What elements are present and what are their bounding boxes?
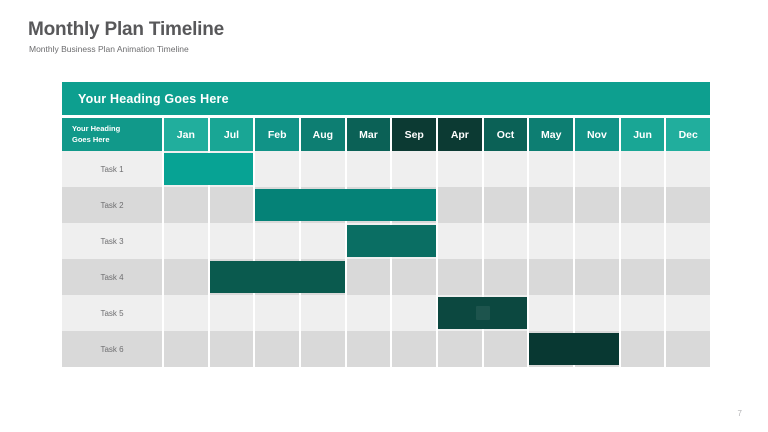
month-header-label: Aug bbox=[313, 129, 333, 141]
page-title: Monthly Plan Timeline bbox=[28, 20, 224, 41]
task-label-4[interactable]: Task 4 bbox=[62, 259, 162, 295]
grid-cell[interactable] bbox=[484, 223, 528, 259]
task-row: Task 4 bbox=[62, 259, 710, 295]
task-label-2[interactable]: Task 2 bbox=[62, 187, 162, 223]
task-row: Task 6 bbox=[62, 331, 710, 367]
month-header-cell-jun[interactable]: Jun bbox=[621, 118, 665, 151]
gantt-bar-task-6[interactable] bbox=[529, 333, 618, 365]
task-row: Task 5 bbox=[62, 295, 710, 331]
slide-canvas: Monthly Plan Timeline Monthly Business P… bbox=[0, 0, 768, 432]
grid-cell[interactable] bbox=[255, 331, 299, 367]
grid-cell[interactable] bbox=[666, 331, 710, 367]
task-grid-area bbox=[162, 259, 710, 295]
grid-cell[interactable] bbox=[210, 295, 254, 331]
image-placeholder-icon bbox=[476, 306, 490, 320]
grid-cell[interactable] bbox=[210, 223, 254, 259]
month-header-cell-apr[interactable]: Apr bbox=[438, 118, 482, 151]
gantt-bar-task-1[interactable] bbox=[164, 153, 253, 185]
grid-cell[interactable] bbox=[529, 187, 573, 223]
grid-cell[interactable] bbox=[484, 151, 528, 187]
grid-cell[interactable] bbox=[301, 151, 345, 187]
grid-cell[interactable] bbox=[438, 223, 482, 259]
chart-heading-bar: Your Heading Goes Here bbox=[62, 82, 710, 115]
task-label-1[interactable]: Task 1 bbox=[62, 151, 162, 187]
grid-cell[interactable] bbox=[392, 259, 436, 295]
task-label-3[interactable]: Task 3 bbox=[62, 223, 162, 259]
task-grid-area bbox=[162, 331, 710, 367]
month-header-label: Jun bbox=[633, 129, 652, 141]
grid-cell[interactable] bbox=[621, 295, 665, 331]
grid-cell[interactable] bbox=[529, 259, 573, 295]
month-header-label: Sep bbox=[405, 129, 424, 141]
gantt-bar-task-4[interactable] bbox=[210, 261, 345, 293]
gantt-chart: Your Heading Goes Here Your Heading Goes… bbox=[62, 82, 710, 367]
grid-cell[interactable] bbox=[210, 187, 254, 223]
corner-heading-cell: Your Heading Goes Here bbox=[62, 118, 162, 151]
grid-cell[interactable] bbox=[438, 151, 482, 187]
month-cells-container: JanJulFebAugMarSepAprOctMayNovJunDec bbox=[162, 118, 710, 151]
grid-cell[interactable] bbox=[164, 259, 208, 295]
grid-cell[interactable] bbox=[666, 223, 710, 259]
grid-cell[interactable] bbox=[301, 331, 345, 367]
grid-cell[interactable] bbox=[484, 259, 528, 295]
grid-cell[interactable] bbox=[529, 151, 573, 187]
grid-cell[interactable] bbox=[575, 151, 619, 187]
month-header-cell-feb[interactable]: Feb bbox=[255, 118, 299, 151]
grid-cell[interactable] bbox=[575, 259, 619, 295]
grid-cell[interactable] bbox=[164, 187, 208, 223]
month-header-cell-mar[interactable]: Mar bbox=[347, 118, 391, 151]
month-header-label: Jul bbox=[224, 129, 239, 141]
grid-cell[interactable] bbox=[484, 331, 528, 367]
task-grid-area bbox=[162, 187, 710, 223]
task-label-5[interactable]: Task 5 bbox=[62, 295, 162, 331]
month-header-label: Dec bbox=[679, 129, 698, 141]
gantt-bar-task-5[interactable] bbox=[438, 297, 527, 329]
grid-cell[interactable] bbox=[301, 295, 345, 331]
grid-cell[interactable] bbox=[621, 187, 665, 223]
grid-cell[interactable] bbox=[621, 223, 665, 259]
grid-cell[interactable] bbox=[666, 151, 710, 187]
grid-cell[interactable] bbox=[666, 295, 710, 331]
grid-cell[interactable] bbox=[392, 295, 436, 331]
grid-cell[interactable] bbox=[347, 295, 391, 331]
grid-cell[interactable] bbox=[347, 151, 391, 187]
corner-heading-line1: Your Heading bbox=[72, 124, 162, 134]
task-row: Task 1 bbox=[62, 151, 710, 187]
month-header-label: Mar bbox=[359, 129, 378, 141]
grid-cell[interactable] bbox=[210, 331, 254, 367]
grid-cell[interactable] bbox=[575, 187, 619, 223]
month-header-label: Apr bbox=[451, 129, 469, 141]
task-grid-area bbox=[162, 223, 710, 259]
grid-cell[interactable] bbox=[392, 331, 436, 367]
grid-cell[interactable] bbox=[438, 331, 482, 367]
grid-cell[interactable] bbox=[666, 187, 710, 223]
grid-cell[interactable] bbox=[438, 259, 482, 295]
grid-cell[interactable] bbox=[621, 259, 665, 295]
month-header-label: Oct bbox=[497, 129, 515, 141]
grid-cell[interactable] bbox=[621, 331, 665, 367]
task-row: Task 2 bbox=[62, 187, 710, 223]
task-rows-container: Task 1Task 2Task 3Task 4Task 5Task 6 bbox=[62, 151, 710, 367]
grid-cell[interactable] bbox=[438, 187, 482, 223]
month-header-label: Feb bbox=[268, 129, 287, 141]
grid-cell[interactable] bbox=[347, 331, 391, 367]
month-header-cell-jul[interactable]: Jul bbox=[210, 118, 254, 151]
month-header-cell-oct[interactable]: Oct bbox=[484, 118, 528, 151]
corner-heading-line2: Goes Here bbox=[72, 135, 162, 145]
task-row: Task 3 bbox=[62, 223, 710, 259]
page-number: 7 bbox=[738, 409, 742, 418]
grid-cell[interactable] bbox=[255, 223, 299, 259]
grid-cell[interactable] bbox=[666, 259, 710, 295]
month-header-cell-sep[interactable]: Sep bbox=[392, 118, 436, 151]
month-header-label: Jan bbox=[177, 129, 195, 141]
grid-cell[interactable] bbox=[575, 295, 619, 331]
page-subtitle: Monthly Business Plan Animation Timeline bbox=[29, 44, 224, 54]
month-header-label: Nov bbox=[587, 129, 607, 141]
title-block: Monthly Plan Timeline Monthly Business P… bbox=[28, 20, 224, 54]
task-grid-area bbox=[162, 151, 710, 187]
month-header-cell-dec[interactable]: Dec bbox=[666, 118, 710, 151]
gantt-bar-task-2[interactable] bbox=[255, 189, 436, 221]
grid-cell[interactable] bbox=[392, 151, 436, 187]
grid-cell[interactable] bbox=[621, 151, 665, 187]
month-header-row: Your Heading Goes Here JanJulFebAugMarSe… bbox=[62, 118, 710, 151]
grid-cell[interactable] bbox=[301, 223, 345, 259]
grid-cell[interactable] bbox=[255, 151, 299, 187]
gantt-bar-task-3[interactable] bbox=[347, 225, 436, 257]
grid-cell[interactable] bbox=[529, 223, 573, 259]
grid-cell[interactable] bbox=[164, 331, 208, 367]
grid-cell[interactable] bbox=[529, 295, 573, 331]
task-grid-area bbox=[162, 295, 710, 331]
grid-cell[interactable] bbox=[164, 295, 208, 331]
task-label-6[interactable]: Task 6 bbox=[62, 331, 162, 367]
month-header-cell-jan[interactable]: Jan bbox=[164, 118, 208, 151]
grid-cell[interactable] bbox=[347, 259, 391, 295]
month-header-label: May bbox=[541, 129, 561, 141]
month-header-cell-may[interactable]: May bbox=[529, 118, 573, 151]
grid-cell[interactable] bbox=[575, 223, 619, 259]
month-header-cell-aug[interactable]: Aug bbox=[301, 118, 345, 151]
month-header-cell-nov[interactable]: Nov bbox=[575, 118, 619, 151]
grid-cell[interactable] bbox=[484, 187, 528, 223]
grid-cell[interactable] bbox=[255, 295, 299, 331]
grid-cell[interactable] bbox=[164, 223, 208, 259]
chart-heading-label: Your Heading Goes Here bbox=[78, 92, 229, 106]
